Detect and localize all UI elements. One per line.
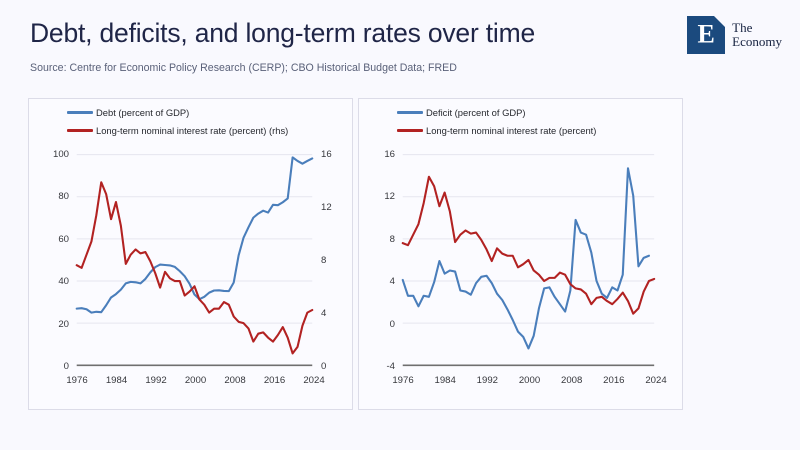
y-axis-tick-label: 16 xyxy=(321,149,332,160)
x-axis-tick-label: 2024 xyxy=(634,375,678,386)
y-axis-tick-label: 12 xyxy=(359,191,395,202)
brand-line-1: The xyxy=(732,21,782,35)
brand-fold-icon xyxy=(714,16,725,27)
x-axis-tick-label: 2000 xyxy=(508,375,552,386)
y-axis-tick-label: 8 xyxy=(321,255,326,266)
x-axis-tick-label: 2016 xyxy=(592,375,636,386)
slide-root: Debt, deficits, and long-term rates over… xyxy=(0,0,800,450)
y-axis-tick-label: 12 xyxy=(321,202,332,213)
y-axis-tick-label: 40 xyxy=(29,276,69,287)
y-axis-tick-label: 8 xyxy=(359,234,395,245)
x-axis-tick-label: 1976 xyxy=(55,375,99,386)
y-axis-tick-label: -4 xyxy=(359,361,395,372)
page-title: Debt, deficits, and long-term rates over… xyxy=(30,18,535,49)
x-axis-tick-label: 1984 xyxy=(95,375,139,386)
y-axis-tick-label: 0 xyxy=(29,361,69,372)
x-axis-tick-label: 1992 xyxy=(134,375,178,386)
chart-svg-debt xyxy=(29,99,352,409)
y-axis-tick-label: 4 xyxy=(359,276,395,287)
chart-panel-deficit: Deficit (percent of GDP) Long-term nomin… xyxy=(358,98,683,410)
charts-container: Debt (percent of GDP) Long-term nominal … xyxy=(0,98,800,418)
x-axis-tick-label: 2024 xyxy=(292,375,336,386)
y-axis-tick-label: 0 xyxy=(321,361,326,372)
x-axis-tick-label: 1992 xyxy=(465,375,509,386)
slide-header: Debt, deficits, and long-term rates over… xyxy=(0,0,800,92)
x-axis-tick-label: 1984 xyxy=(423,375,467,386)
brand-mark-icon: E xyxy=(687,16,725,54)
x-axis-tick-label: 2008 xyxy=(213,375,257,386)
x-axis-tick-label: 1976 xyxy=(381,375,425,386)
y-axis-tick-label: 80 xyxy=(29,191,69,202)
y-axis-tick-label: 100 xyxy=(29,149,69,160)
x-axis-tick-label: 2016 xyxy=(253,375,297,386)
y-axis-tick-label: 16 xyxy=(359,149,395,160)
brand-wordmark: The Economy xyxy=(732,21,782,48)
y-axis-tick-label: 60 xyxy=(29,234,69,245)
x-axis-tick-label: 2000 xyxy=(174,375,218,386)
chart-panel-debt: Debt (percent of GDP) Long-term nominal … xyxy=(28,98,353,410)
source-note: Source: Centre for Economic Policy Resea… xyxy=(30,62,457,74)
y-axis-tick-label: 20 xyxy=(29,319,69,330)
brand-line-2: Economy xyxy=(732,35,782,49)
y-axis-tick-label: 0 xyxy=(359,319,395,330)
brand-logo: E The Economy xyxy=(687,16,782,54)
y-axis-tick-label: 4 xyxy=(321,308,326,319)
chart-svg-deficit xyxy=(359,99,682,409)
x-axis-tick-label: 2008 xyxy=(550,375,594,386)
